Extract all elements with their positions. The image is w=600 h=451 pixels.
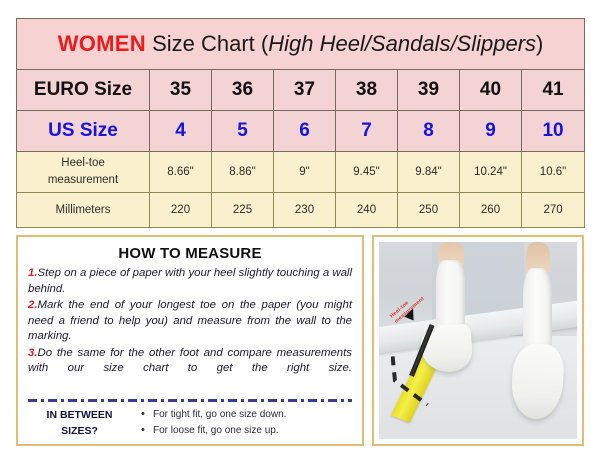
row-label-euro: EURO Size <box>17 70 150 111</box>
page-title: WOMEN Size Chart (High Heel/Sandals/Slip… <box>17 19 585 70</box>
cell-euro-2: 36 <box>212 70 274 111</box>
cell-heel-1: 8.66" <box>150 152 212 193</box>
lower-section: HOW TO MEASURE 1.Step on a piece of pape… <box>16 235 584 446</box>
in-between-sizes-section: IN BETWEEN SIZES? For tight fit, go one … <box>28 407 352 440</box>
cell-mm-1: 220 <box>150 193 212 228</box>
title-tail: ) <box>536 31 543 56</box>
step-3-text: Do the same for the other foot and compa… <box>28 347 352 375</box>
cell-heel-2: 8.86" <box>212 152 274 193</box>
how-to-measure-heading: HOW TO MEASURE <box>28 245 352 262</box>
feet-measurement-photo: Heel-toe measurement <box>379 242 577 439</box>
how-to-measure-panel: HOW TO MEASURE 1.Step on a piece of pape… <box>16 235 364 446</box>
cell-euro-5: 39 <box>398 70 460 111</box>
cell-mm-7: 270 <box>522 193 585 228</box>
cell-us-5: 8 <box>398 111 460 152</box>
row-label-us: US Size <box>17 111 150 152</box>
title-main: Size Chart ( <box>146 31 268 56</box>
in-between-label: IN BETWEEN SIZES? <box>32 407 127 440</box>
photo-right-sock <box>523 268 553 356</box>
cell-us-3: 6 <box>274 111 336 152</box>
tip-tight-fit: For tight fit, go one size down. <box>141 407 286 423</box>
tip-loose-fit: For loose fit, go one size up. <box>141 423 286 439</box>
measure-step-2: 2.Mark the end of your longest toe on th… <box>28 298 352 345</box>
cell-mm-2: 225 <box>212 193 274 228</box>
title-emphasis: WOMEN <box>58 31 146 56</box>
photo-dashed-measure-line <box>391 352 431 407</box>
table-row-millimeters: Millimeters 220 225 230 240 250 260 270 <box>17 193 585 228</box>
size-chart-table: WOMEN Size Chart (High Heel/Sandals/Slip… <box>16 18 585 228</box>
step-3-number: 3. <box>28 347 38 359</box>
cell-heel-5: 9.84" <box>398 152 460 193</box>
cell-us-7: 10 <box>522 111 585 152</box>
measure-step-3: 3.Do the same for the other foot and com… <box>28 346 352 393</box>
cell-euro-3: 37 <box>274 70 336 111</box>
section-divider <box>28 399 352 402</box>
cell-euro-6: 40 <box>460 70 522 111</box>
table-row-title: WOMEN Size Chart (High Heel/Sandals/Slip… <box>17 19 585 70</box>
cell-mm-6: 260 <box>460 193 522 228</box>
cell-mm-3: 230 <box>274 193 336 228</box>
row-label-millimeters: Millimeters <box>17 193 150 228</box>
in-between-tips-list: For tight fit, go one size down. For loo… <box>141 407 286 439</box>
cell-heel-4: 9.45" <box>336 152 398 193</box>
in-between-label-line1: IN BETWEEN <box>47 409 113 421</box>
heel-label-line2: measurement <box>48 174 118 186</box>
step-1-text: Step on a piece of paper with your heel … <box>28 267 352 295</box>
cell-us-2: 5 <box>212 111 274 152</box>
in-between-label-line2: SIZES? <box>61 425 98 437</box>
cell-euro-1: 35 <box>150 70 212 111</box>
measure-step-1: 1.Step on a piece of paper with your hee… <box>28 266 352 297</box>
heel-label-line1: Heel-toe <box>61 157 104 169</box>
cell-heel-6: 10.24" <box>460 152 522 193</box>
row-label-heel-toe: Heel-toe measurement <box>17 152 150 193</box>
step-2-text: Mark the end of your longest toe on the … <box>28 299 352 342</box>
cell-us-4: 7 <box>336 111 398 152</box>
measurement-photo-panel: Heel-toe measurement <box>372 235 584 446</box>
cell-us-1: 4 <box>150 111 212 152</box>
table-row-euro: EURO Size 35 36 37 38 39 40 41 <box>17 70 585 111</box>
step-1-number: 1. <box>28 267 38 279</box>
cell-mm-4: 240 <box>336 193 398 228</box>
step-2-number: 2. <box>28 299 38 311</box>
table-row-us: US Size 4 5 6 7 8 9 10 <box>17 111 585 152</box>
title-italic: High Heel/Sandals/Slippers <box>268 31 536 56</box>
cell-us-6: 9 <box>460 111 522 152</box>
cell-heel-7: 10.6" <box>522 152 585 193</box>
cell-euro-4: 38 <box>336 70 398 111</box>
cell-mm-5: 250 <box>398 193 460 228</box>
cell-euro-7: 41 <box>522 70 585 111</box>
cell-heel-3: 9" <box>274 152 336 193</box>
size-chart-page: WOMEN Size Chart (High Heel/Sandals/Slip… <box>0 0 600 451</box>
table-row-heel-toe: Heel-toe measurement 8.66" 8.86" 9" 9.45… <box>17 152 585 193</box>
